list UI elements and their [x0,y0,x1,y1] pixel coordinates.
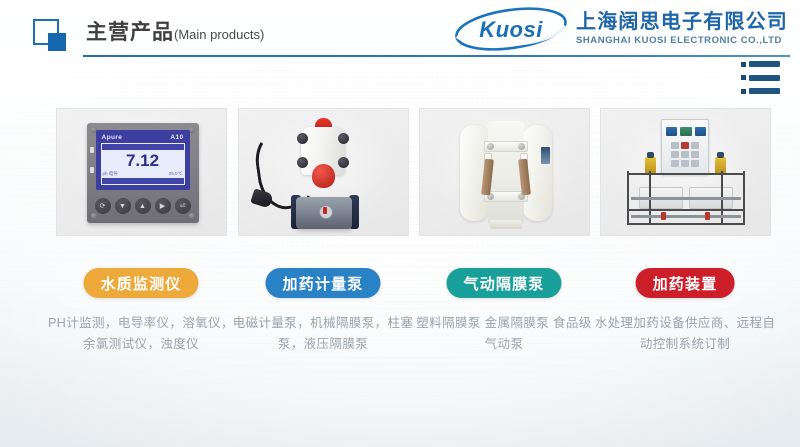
product-description-dosing-metering-pump: 电磁计量泵，机械隔膜泵，柱塞泵，液压隔膜泵 [229,313,417,355]
brand-block: Kuosi 上海阔思电子有限公司 SHANGHAI KUOSI ELECTRON… [452,6,788,52]
pump-label-plate [541,147,550,164]
header-divider [83,55,790,57]
pump-center-block [488,121,524,225]
device-model: A10 [170,134,183,141]
lcd-reading: 7.12 [101,151,185,171]
product-image-dosing-metering-pump [238,108,409,236]
controller-screen: Apure A10 7.12 ph 电导 25.0℃ [96,130,190,190]
pump-foot [490,220,522,229]
diaphragm-pump-body [460,121,552,225]
product-image-pneumatic-diaphragm-pump [419,108,590,236]
dosing-control-panel [661,119,709,175]
square-outline-square-fill-icon [33,19,71,53]
product-description-water-quality-monitor: PH计监测，电导率仪，溶氧仪，余氯测试仪，浊度仪 [47,313,235,355]
product-pill-dosing-device[interactable]: 加药装置 [636,268,735,298]
product-card-water-quality-monitor[interactable]: Apure A10 7.12 ph 电导 25.0℃ [51,108,231,236]
page-title-en: (Main products) [174,27,264,42]
menu-bar [749,61,780,67]
menu-bar [749,88,780,94]
product-description-dosing-device: 水处理加药设备供应商、远程自动控制系统订制 [591,313,779,355]
controller-button: ▼ [115,198,131,214]
product-description-pneumatic-diaphragm-pump: 塑料隔膜泵 金属隔膜泵 食品级气动泵 [410,313,598,355]
brand-name-en: SHANGHAI KUOSI ELECTRONIC CO.,LTD [576,34,788,47]
lcd-panel: 7.12 ph 电导 25.0℃ [101,143,185,185]
lcd-sub-right: 25.0℃ [169,171,183,177]
controller-button: ⟳ [95,198,111,214]
square-fill-shape [48,33,66,51]
product-pill-dosing-metering-pump[interactable]: 加药计量泵 [265,268,380,298]
controller-body: Apure A10 7.12 ph 电导 25.0℃ [87,123,199,223]
device-brand: Apure [102,134,123,141]
product-image-water-quality-monitor: Apure A10 7.12 ph 电导 25.0℃ [56,108,227,236]
product-grid: Apure A10 7.12 ph 电导 25.0℃ [0,108,800,408]
page-title: 主营产品(Main products) [86,20,264,48]
controller-button-row: ⟳ ▼ ▲ ▶ ⏎ [95,198,191,214]
menu-bullet [741,62,746,67]
page-title-zh: 主营产品 [86,21,174,44]
brand-text: 上海阔思电子有限公司 SHANGHAI KUOSI ELECTRONIC CO.… [576,11,788,47]
product-card-pneumatic-diaphragm-pump[interactable]: 气动隔膜泵 塑料隔膜泵 金属隔膜泵 食品级气动泵 [414,108,594,236]
brand-name-zh: 上海阔思电子有限公司 [576,11,788,34]
device-brand-row: Apure A10 [102,133,184,142]
product-image-dosing-device [600,108,771,236]
product-card-dosing-device[interactable]: 加药装置 水处理加药设备供应商、远程自动控制系统订制 [595,108,775,236]
controller-button: ⏎ [175,198,191,214]
lcd-sub-left: ph 电导 [103,171,118,177]
svg-text:Kuosi: Kuosi [479,17,543,42]
pump-outlet-valve [312,164,335,188]
lcd-subrow: ph 电导 25.0℃ [103,171,183,177]
product-card-dosing-metering-pump[interactable]: 加药计量泵 电磁计量泵，机械隔膜泵，柱塞泵，液压隔膜泵 [233,108,413,236]
control-keypad [671,142,701,167]
product-pill-water-quality-monitor[interactable]: 水质监测仪 [83,268,198,298]
menu-row [741,88,783,94]
menu-bullet [741,75,746,80]
controller-button: ▲ [135,198,151,214]
menu-row [741,75,783,81]
menu-row [741,61,783,67]
controller-button: ▶ [155,198,171,214]
header: 主营产品(Main products) Kuosi 上海阔思电子有限公司 SHA… [0,0,800,66]
menu-bullet [741,89,746,94]
menu-bar [749,75,780,81]
product-pill-pneumatic-diaphragm-pump[interactable]: 气动隔膜泵 [446,268,561,298]
kuosi-swoosh-logo: Kuosi [452,7,570,51]
list-menu-icon[interactable] [741,61,783,94]
slide-root: 主营产品(Main products) Kuosi 上海阔思电子有限公司 SHA… [0,0,800,447]
